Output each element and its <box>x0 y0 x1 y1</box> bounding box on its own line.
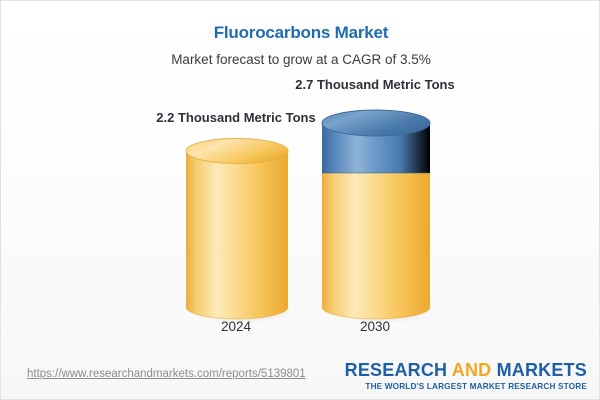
bar-cylinder-2024-graphic <box>179 137 295 329</box>
category-label-2024: 2024 <box>186 319 286 334</box>
logo-word-research: RESEARCH <box>345 360 448 380</box>
data-label-2024: 2.2 Thousand Metric Tons <box>146 108 326 127</box>
chart-title: Fluorocarbons Market <box>1 23 600 43</box>
logo-tagline: THE WORLD'S LARGEST MARKET RESEARCH STOR… <box>345 382 587 391</box>
chart-plot-area: Fluorocarbons Market Market forecast to … <box>1 1 599 399</box>
bar-cylinder-2030[interactable] <box>315 109 437 329</box>
chart-card: Fluorocarbons Market Market forecast to … <box>0 0 600 400</box>
data-label-2030: 2.7 Thousand Metric Tons <box>285 75 465 94</box>
logo-word-and: AND <box>447 360 496 380</box>
bar-cylinder-2030-graphic <box>315 109 437 329</box>
category-label-2030: 2030 <box>321 319 429 334</box>
logo-word-markets: MARKETS <box>497 360 587 380</box>
bar-cylinder-2024[interactable] <box>179 137 295 329</box>
logo-wordmark: RESEARCH AND MARKETS <box>345 360 587 381</box>
research-and-markets-logo[interactable]: RESEARCH AND MARKETS THE WORLD'S LARGEST… <box>345 360 587 391</box>
report-url-link[interactable]: https://www.researchandmarkets.com/repor… <box>27 368 306 380</box>
chart-subtitle: Market forecast to grow at a CAGR of 3.5… <box>1 52 600 67</box>
footer: https://www.researchandmarkets.com/repor… <box>1 353 600 399</box>
